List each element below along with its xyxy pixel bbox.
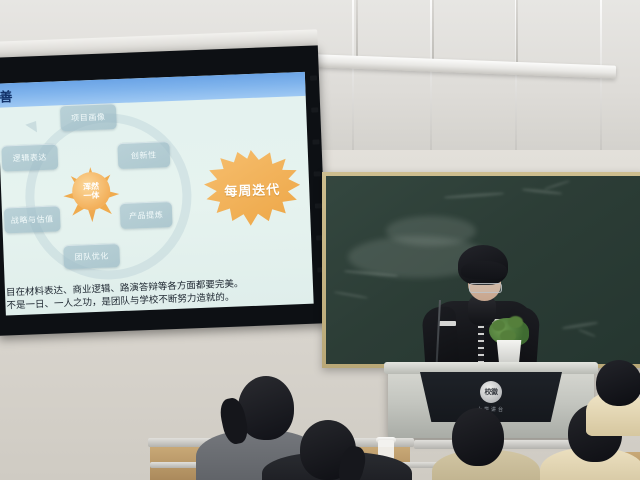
node-team-optimize: 团队优化: [63, 243, 120, 269]
screen-bracket: [311, 107, 318, 112]
screen-bracket: [310, 75, 317, 80]
audience-member-head: [596, 360, 640, 406]
burst-label: 每周迭代: [224, 178, 281, 199]
audience-member-head: [452, 408, 504, 466]
screen-bracket: [312, 139, 319, 144]
node-label: 创新性: [131, 149, 157, 161]
slide-footer: 目在材料表达、商业逻辑、路演答辩等各方面都要完美。 不是一日、一人之功，是团队与…: [5, 275, 314, 313]
projection-screen: 善 项目画像 创新性 产品提炼 团队优化 战略与估值 逻辑表达: [0, 45, 329, 349]
plant-pot: [495, 340, 523, 362]
light-suspension-rod: [356, 0, 358, 60]
wall-panel-seam: [352, 0, 354, 150]
node-label: 逻辑表达: [12, 151, 47, 163]
node-label: 战略与估值: [11, 213, 54, 226]
node-strategy-value: 战略与估值: [4, 205, 61, 233]
screen-frame: 善 项目画像 创新性 产品提炼 团队优化 战略与估值 逻辑表达: [0, 45, 328, 335]
slide-title: 善: [0, 86, 13, 106]
screen-bracket: [315, 203, 322, 208]
weekly-iteration-burst: 每周迭代: [203, 148, 302, 230]
node-label: 项目画像: [71, 111, 106, 123]
projected-slide: 善 项目画像 创新性 产品提炼 团队优化 战略与估值 逻辑表达: [0, 72, 314, 316]
university-emblem-icon: 校徽: [480, 381, 502, 403]
sun-burst-icon: 浑然 一体: [55, 155, 128, 236]
presenter-fringe: [461, 261, 507, 279]
node-label: 产品提炼: [129, 209, 164, 221]
ring-arrow-icon: [25, 117, 42, 132]
slide-body: 项目画像 创新性 产品提炼 团队优化 战略与估值 逻辑表达: [0, 96, 314, 316]
glasses-icon: [469, 283, 502, 293]
node-project-profile: 项目画像: [60, 103, 117, 131]
classroom-scene: 善 项目画像 创新性 产品提炼 团队优化 战略与估值 逻辑表达: [0, 0, 640, 480]
node-logic-express: 逻辑表达: [1, 143, 58, 171]
node-innovation: 创新性: [117, 141, 170, 169]
presenter: [424, 245, 540, 380]
screen-bracket: [314, 171, 321, 176]
node-product-refine: 产品提炼: [120, 201, 173, 229]
light-suspension-rod: [432, 0, 434, 66]
jacket-logo-patch: [438, 321, 456, 326]
sun-core-line2: 一体: [83, 191, 99, 201]
node-label: 团队优化: [74, 250, 109, 262]
